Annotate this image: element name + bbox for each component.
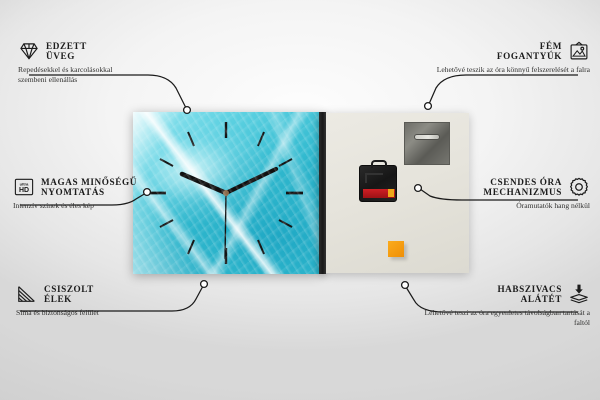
feature-foam-backing: HABSZIVACS ALÁTÉT Lehetővé teszi az óra … [418,283,590,328]
clock-minute-hand [226,169,276,193]
mechanism-handle [371,160,387,168]
quartz-clock-mechanism [359,165,397,202]
foam-spacer-pad [388,241,404,257]
battery-label [363,189,395,198]
clock-hour-hand [182,174,226,193]
feature-polished-edges: CSISZOLT ÉLEK Sima és biztonságos felüle… [16,283,186,318]
mechanism-ridge [365,173,383,183]
hanger-slot [414,134,440,140]
feature-title-line1: CSENDES ÓRA [424,177,562,187]
feature-title-line2: MECHANIZMUS [424,187,562,197]
feature-metal-handles: FÉM FOGANTYÚK Lehetővé teszik az óra kön… [420,40,590,75]
clock-second-hand [225,193,226,259]
feature-silent-mechanism: CSENDES ÓRA MECHANIZMUS Óramutatók hang … [424,176,590,211]
feature-description: Intenzív színek és éles kép [13,201,183,211]
connector-dot-polished-edges [201,281,208,288]
polished-edge-icon [16,283,38,305]
feature-title-line2: FOGANTYÚK [420,51,562,61]
feature-title-line1: EDZETT [46,41,87,51]
picture-hanger-icon [568,40,590,62]
press-foam-icon [568,283,590,305]
product-image [133,112,469,274]
feature-description: Óramutatók hang nélkül [424,201,590,211]
feature-title-line2: ÜVEG [46,51,87,61]
connector-dot-metal-handles [425,103,432,110]
gear-icon [568,176,590,198]
feature-title-line2: NYOMTATÁS [41,187,137,197]
feature-hd-print: ultra HD MAGAS MINŐSÉGŰ NYOMTATÁS Intenz… [13,176,183,211]
feature-description: Lehetővé teszik az óra könnyű felszerelé… [420,65,590,75]
feature-tempered-glass: EDZETT ÜVEG Repedésekkel és karcolásokka… [18,40,180,85]
feature-title-line1: FÉM [420,41,562,51]
connector-dot-foam-backing [402,282,409,289]
feature-description: Repedésekkel és karcolásokkal szembeni e… [18,65,136,85]
glass-side-edge [319,112,326,274]
infographic-canvas: EDZETT ÜVEG Repedésekkel és karcolásokka… [0,0,600,400]
feature-title-line1: HABSZIVACS [418,284,562,294]
svg-text:HD: HD [19,187,29,194]
connector-metal-handles [429,75,578,104]
feature-title-line2: ÉLEK [44,294,94,304]
feature-title-line1: MAGAS MINŐSÉGŰ [41,177,137,187]
ultra-hd-icon: ultra HD [13,176,35,198]
clock-center-cap [223,190,229,196]
feature-description: Lehetővé teszi az óra egyenletes távolsá… [418,308,590,328]
feature-title-line1: CSISZOLT [44,284,94,294]
feature-description: Sima és biztonságos felület [16,308,186,318]
metal-hanger-plate [404,122,450,165]
diamond-icon [18,40,40,62]
svg-text:ultra: ultra [20,182,29,187]
feature-title-line2: ALÁTÉT [418,294,562,304]
